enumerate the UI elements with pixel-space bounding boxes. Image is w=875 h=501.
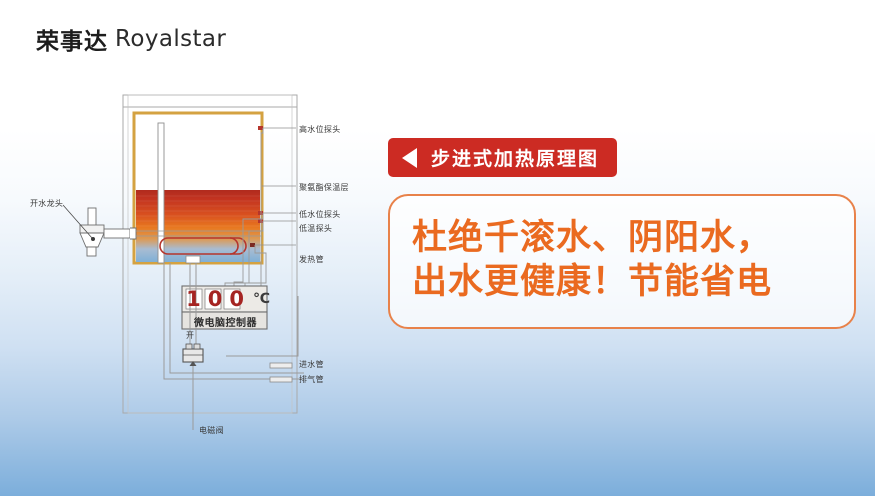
tank-bottom-fitting (186, 256, 200, 263)
slogan-line-1: 杜绝千滚水、阴阳水， (412, 216, 832, 260)
low-water-probe-marker (258, 211, 263, 215)
controller-readout: 100 ℃ (183, 285, 268, 312)
diagram-svg (0, 0, 380, 496)
label-insulation-layer: 聚氨酯保温层 (299, 182, 349, 193)
right-content-panel: 步进式加热原理图 杜绝千滚水、阴阳水， 出水更健康！节能省电 (388, 138, 858, 329)
banner-title: 步进式加热原理图 (431, 144, 599, 171)
temperature-value: 100 (181, 287, 251, 311)
slogan-callout-box: 杜绝千滚水、阴阳水， 出水更健康！节能省电 (388, 194, 856, 329)
label-faucet: 开水龙头 (30, 198, 63, 209)
label-low-temp-probe: 低温探头 (299, 223, 332, 234)
triangle-left-icon (402, 148, 417, 168)
heating-principle-diagram: 开水龙头 高水位探头 聚氨酯保温层 低水位探头 低温探头 发热管 进水管 排气管… (0, 0, 380, 496)
label-heating-tube: 发热管 (299, 254, 324, 265)
label-exhaust-pipe: 排气管 (299, 374, 324, 385)
slogan-line-2: 出水更健康！节能省电 (412, 260, 832, 304)
label-valve-state: 开 (186, 330, 194, 341)
solenoid-valve (183, 344, 203, 430)
controller-caption: 微电脑控制器 (183, 313, 268, 329)
high-water-probe-marker (258, 126, 263, 130)
label-solenoid-valve: 电磁阀 (199, 425, 224, 436)
label-high-water-probe: 高水位探头 (299, 124, 341, 135)
heating-tube-marker (250, 243, 255, 247)
temperature-unit: ℃ (253, 291, 270, 307)
section-banner: 步进式加热原理图 (388, 138, 617, 177)
label-water-inlet-pipe: 进水管 (299, 359, 324, 370)
label-low-water-probe: 低水位探头 (299, 209, 341, 220)
low-temp-probe-marker (258, 219, 263, 223)
